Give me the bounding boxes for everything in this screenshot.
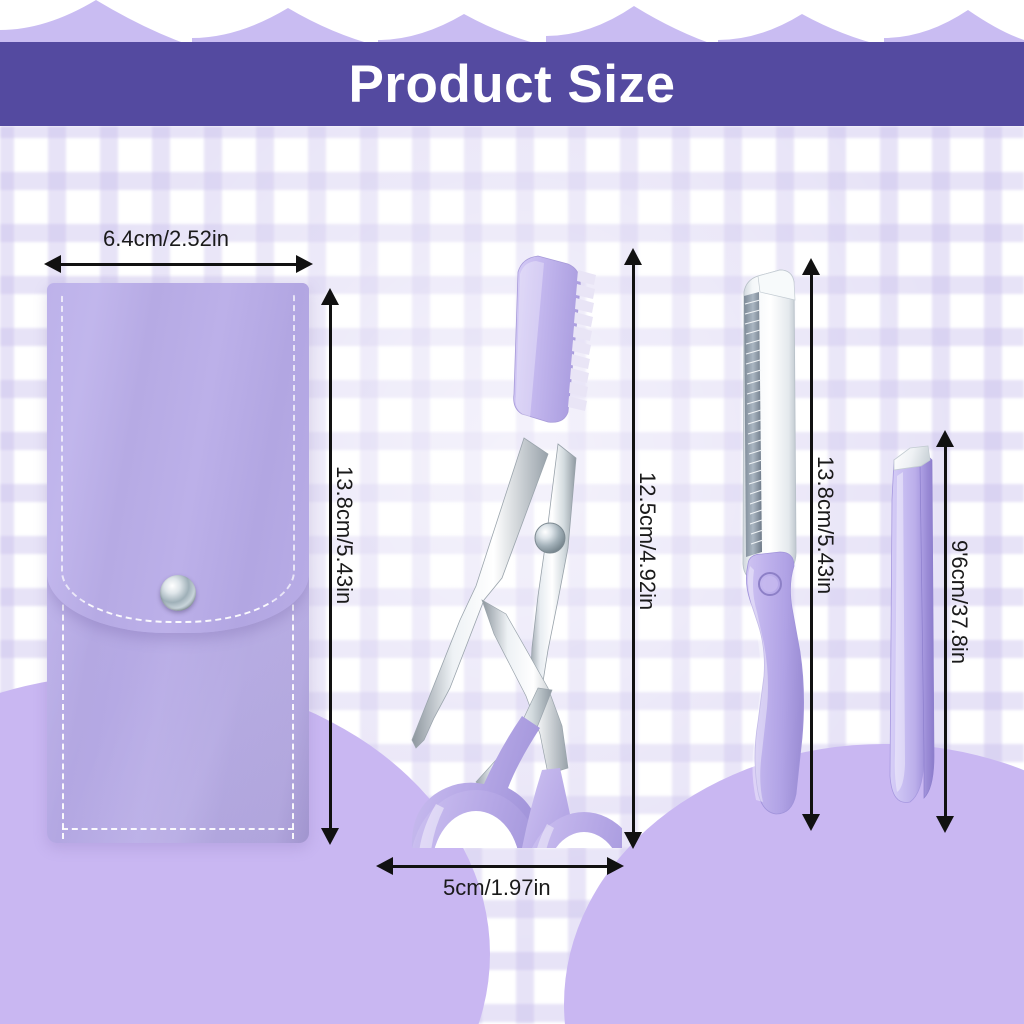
dimension-pouch-width-arrow-left (44, 255, 61, 273)
pouch-stitching-bottom (62, 828, 294, 830)
dimension-pouch-width-label: 6.4cm/2.52in (103, 226, 229, 252)
dimension-pouch-height-arrow-bottom (321, 828, 339, 845)
dimension-scissors-width-arrow-left (376, 857, 393, 875)
pouch-flap-stitching (61, 293, 295, 623)
dimension-scissors-height-arrow-top (624, 248, 642, 265)
product-size-infographic: 6.4cm/2.52in 13.8cm/5.43in 12.5cm/4.92in… (0, 0, 1024, 1024)
scallop-shape (0, 0, 1024, 46)
dimension-scissors-width-arrow-right (607, 857, 624, 875)
dimension-scissors-height-label: 12.5cm/4.92in (634, 472, 660, 610)
dimension-tweezers-height-arrow-top (936, 430, 954, 447)
tweezers-illustration (880, 424, 950, 824)
dimension-pouch-width-line (57, 263, 303, 266)
scallop-decoration (0, 0, 1024, 46)
dimension-scissors-height-arrow-bottom (624, 832, 642, 849)
header-banner: Product Size (0, 42, 1024, 126)
dimension-tweezers-height-label: 9'6cm/37.8in (946, 540, 972, 664)
scissors-handle-right (522, 768, 622, 848)
dimension-scissors-width-line (389, 865, 613, 868)
dimension-pouch-width-arrow-right (296, 255, 313, 273)
product-eyebrow-scissors (372, 248, 622, 848)
pouch-snap-button (160, 575, 196, 611)
dimension-pouch-height-arrow-top (321, 288, 339, 305)
dimension-razor-height-label: 13.8cm/5.43in (812, 456, 838, 594)
dimension-razor-height-arrow-bottom (802, 814, 820, 831)
dimension-scissors-width-label: 5cm/1.97in (443, 875, 551, 901)
dimension-tweezers-height-arrow-bottom (936, 816, 954, 833)
scissors-illustration (372, 248, 622, 848)
razor-pivot-center (762, 576, 778, 592)
product-storage-pouch (47, 283, 309, 843)
scissors-pivot-screw (535, 523, 565, 553)
dimension-pouch-height-label: 13.8cm/5.43in (331, 466, 357, 604)
page-title: Product Size (348, 58, 675, 111)
dimension-razor-height-arrow-top (802, 258, 820, 275)
scissors-blade-left (412, 438, 548, 748)
product-slant-tweezers (880, 424, 950, 824)
